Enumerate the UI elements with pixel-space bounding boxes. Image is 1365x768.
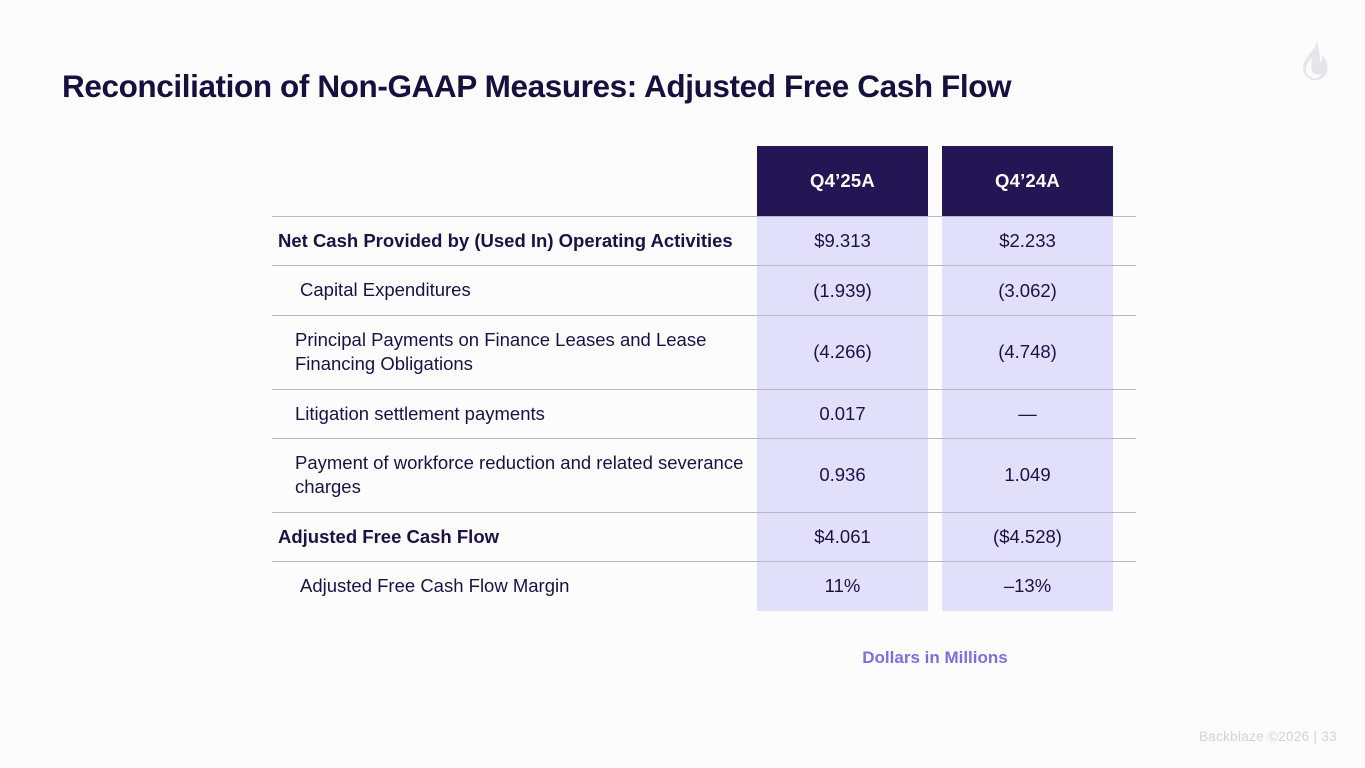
row-tail	[1113, 562, 1136, 611]
table-header: Q4’25A Q4’24A	[272, 146, 1136, 217]
column-header-q4-25a: Q4’25A	[757, 146, 928, 217]
cell-q4-25a: $9.313	[757, 217, 928, 266]
cell-q4-25a: (1.939)	[757, 266, 928, 315]
row-label: Adjusted Free Cash Flow	[278, 525, 750, 549]
row-tail	[1113, 512, 1136, 561]
table-row: Principal Payments on Finance Leases and…	[272, 315, 1136, 389]
column-header-q4-24a: Q4’24A	[942, 146, 1113, 217]
row-gap-middle	[928, 266, 942, 315]
units-footnote: Dollars in Millions	[757, 648, 1113, 668]
cell-q4-24a: –13%	[942, 562, 1113, 611]
cell-q4-24a: $2.233	[942, 217, 1113, 266]
table-row: Capital Expenditures(1.939)(3.062)	[272, 266, 1136, 315]
row-label-cell: Adjusted Free Cash Flow	[272, 512, 756, 561]
row-gap-middle	[928, 512, 942, 561]
page-title: Reconciliation of Non-GAAP Measures: Adj…	[62, 68, 1011, 105]
cell-q4-24a: (3.062)	[942, 266, 1113, 315]
backblaze-flame-icon	[1293, 36, 1337, 84]
table-row: Adjusted Free Cash Flow$4.061($4.528)	[272, 512, 1136, 561]
row-label: Principal Payments on Finance Leases and…	[278, 328, 750, 377]
cell-q4-25a: 0.936	[757, 439, 928, 513]
row-tail	[1113, 217, 1136, 266]
row-label-cell: Principal Payments on Finance Leases and…	[272, 315, 756, 389]
row-label: Net Cash Provided by (Used In) Operating…	[278, 229, 750, 253]
row-label-cell: Capital Expenditures	[272, 266, 756, 315]
cell-q4-25a: $4.061	[757, 512, 928, 561]
row-label-cell: Payment of workforce reduction and relat…	[272, 439, 756, 513]
header-gap-2	[928, 146, 942, 217]
cell-q4-24a: ($4.528)	[942, 512, 1113, 561]
reconciliation-table-wrap: Q4’25A Q4’24A Net Cash Provided by (Used…	[272, 146, 1136, 611]
cell-q4-25a: 0.017	[757, 389, 928, 438]
row-label: Capital Expenditures	[278, 278, 750, 302]
row-label-cell: Litigation settlement payments	[272, 389, 756, 438]
table-row: Payment of workforce reduction and relat…	[272, 439, 1136, 513]
column-header-label	[272, 146, 756, 217]
header-tail	[1113, 146, 1136, 217]
row-gap-middle	[928, 389, 942, 438]
cell-q4-25a: 11%	[757, 562, 928, 611]
table-header-row: Q4’25A Q4’24A	[272, 146, 1136, 217]
row-tail	[1113, 266, 1136, 315]
table-row: Net Cash Provided by (Used In) Operating…	[272, 217, 1136, 266]
table-row: Adjusted Free Cash Flow Margin11%–13%	[272, 562, 1136, 611]
reconciliation-table: Q4’25A Q4’24A Net Cash Provided by (Used…	[272, 146, 1136, 611]
row-gap-middle	[928, 315, 942, 389]
cell-q4-25a: (4.266)	[757, 315, 928, 389]
row-gap-middle	[928, 217, 942, 266]
row-label: Litigation settlement payments	[278, 402, 750, 426]
row-gap-middle	[928, 562, 942, 611]
table-row: Litigation settlement payments0.017—	[272, 389, 1136, 438]
row-tail	[1113, 389, 1136, 438]
row-gap-middle	[928, 439, 942, 513]
cell-q4-24a: —	[942, 389, 1113, 438]
footer-credit: Backblaze ©2026 | 33	[1199, 729, 1337, 744]
row-label: Adjusted Free Cash Flow Margin	[278, 574, 750, 598]
row-label-cell: Adjusted Free Cash Flow Margin	[272, 562, 756, 611]
row-tail	[1113, 439, 1136, 513]
cell-q4-24a: 1.049	[942, 439, 1113, 513]
table-body: Net Cash Provided by (Used In) Operating…	[272, 217, 1136, 611]
row-label: Payment of workforce reduction and relat…	[278, 451, 750, 500]
row-tail	[1113, 315, 1136, 389]
cell-q4-24a: (4.748)	[942, 315, 1113, 389]
row-label-cell: Net Cash Provided by (Used In) Operating…	[272, 217, 756, 266]
